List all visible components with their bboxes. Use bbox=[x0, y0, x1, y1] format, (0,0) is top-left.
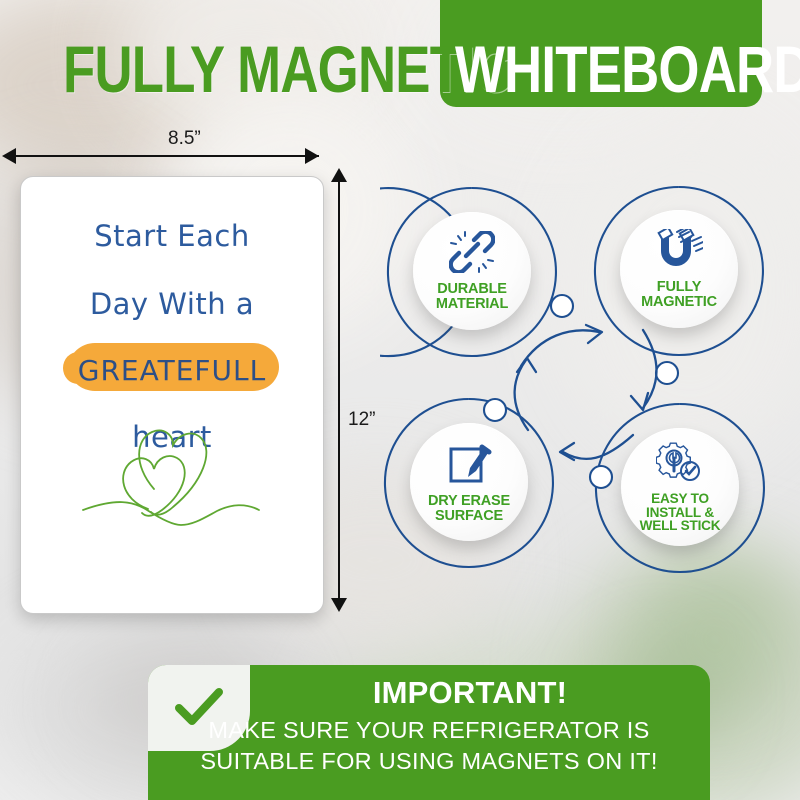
feature-cycle-diagram: DURABLE MATERIAL FULLY MAGNETIC bbox=[380, 180, 800, 600]
feature-label: DURABLE MATERIAL bbox=[436, 282, 508, 312]
feature-label: EASY TO INSTALL & WELL STICK bbox=[640, 492, 721, 534]
whiteboard-product-image: Start Each Day With a GREATEFULL heart bbox=[20, 176, 324, 614]
feature-durable-material[interactable]: DURABLE MATERIAL bbox=[413, 212, 531, 330]
marker-pen-icon bbox=[446, 441, 492, 490]
title-fully-magnetic: FULLY MAGNETIC bbox=[63, 36, 512, 102]
banner-line-1: MAKE SURE YOUR REFRIGERATOR IS bbox=[148, 717, 710, 744]
width-dimension-label: 8.5” bbox=[168, 128, 201, 150]
feature-label: DRY ERASE SURFACE bbox=[428, 494, 510, 524]
feature-label: FULLY MAGNETIC bbox=[641, 280, 717, 310]
title-whiteboard: WHITEBOARD bbox=[455, 36, 800, 102]
height-arrow-up-icon bbox=[331, 168, 347, 182]
banner-title: IMPORTANT! bbox=[250, 675, 690, 711]
height-dimension-label: 12” bbox=[348, 409, 375, 431]
feature-fully-magnetic[interactable]: FULLY MAGNETIC bbox=[620, 210, 738, 328]
height-dimension-line bbox=[338, 178, 340, 606]
width-dimension-line bbox=[13, 155, 319, 157]
infographic-canvas: FULLY MAGNETIC WHITEBOARD 8.5” 12” Start… bbox=[0, 0, 800, 800]
two-hearts-doodle bbox=[21, 177, 323, 613]
banner-line-2: SUITABLE FOR USING MAGNETS ON IT! bbox=[148, 748, 710, 775]
chain-link-icon bbox=[449, 231, 495, 278]
gear-wrench-check-icon bbox=[656, 441, 704, 488]
feature-easy-to-install[interactable]: EASY TO INSTALL & WELL STICK bbox=[621, 428, 739, 546]
page-title: FULLY MAGNETIC WHITEBOARD bbox=[0, 14, 800, 104]
height-arrow-down-icon bbox=[331, 598, 347, 612]
width-arrow-left-icon bbox=[2, 148, 16, 164]
important-banner: IMPORTANT! MAKE SURE YOUR REFRIGERATOR I… bbox=[148, 665, 710, 800]
width-arrow-right-icon bbox=[305, 148, 319, 164]
feature-dry-erase-surface[interactable]: DRY ERASE SURFACE bbox=[410, 423, 528, 541]
horseshoe-magnet-icon bbox=[655, 229, 703, 276]
